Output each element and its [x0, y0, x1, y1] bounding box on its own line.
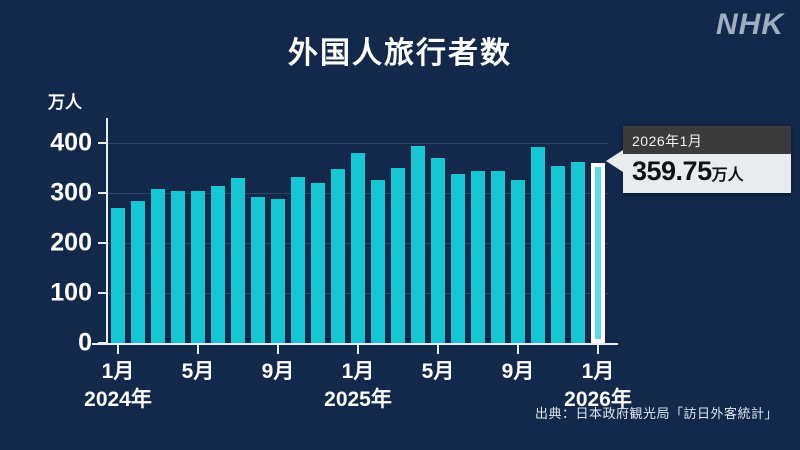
bar-plot-area	[108, 143, 608, 343]
y-tick-mark-0	[98, 342, 107, 344]
bar[interactable]	[391, 168, 405, 343]
bar[interactable]	[431, 158, 445, 343]
x-tick-label-0: 1月	[102, 355, 135, 385]
x-tick-mark-6	[597, 345, 599, 354]
bar[interactable]	[191, 191, 205, 343]
x-tick-label-5: 9月	[502, 355, 535, 385]
tooltip-value-row: 359.75万人	[623, 154, 791, 193]
y-tick-label-300: 300	[0, 179, 92, 208]
bar[interactable]	[231, 178, 245, 343]
y-tick-label-0: 0	[0, 329, 92, 358]
bar[interactable]	[171, 191, 185, 343]
x-tick-mark-1	[197, 345, 199, 354]
tooltip-period-label: 2026年1月	[623, 126, 791, 154]
bar[interactable]	[411, 146, 425, 343]
x-tick-label-6: 1月	[582, 355, 615, 385]
bar[interactable]	[471, 171, 485, 343]
x-year-label-0: 2024年	[84, 383, 152, 413]
bar[interactable]	[111, 208, 125, 343]
bar[interactable]	[571, 162, 585, 343]
tooltip-arrow-icon	[606, 150, 623, 172]
bar[interactable]	[591, 163, 605, 343]
x-tick-mark-3	[357, 345, 359, 354]
x-year-label-1: 2025年	[324, 383, 392, 413]
page-title: 外国人旅行者数	[0, 28, 800, 72]
y-tick-label-400: 400	[0, 129, 92, 158]
bar[interactable]	[151, 189, 165, 344]
bar[interactable]	[351, 153, 365, 343]
bar[interactable]	[291, 177, 305, 343]
y-tick-mark-100	[98, 292, 107, 294]
bar[interactable]	[331, 169, 345, 344]
y-tick-mark-200	[98, 242, 107, 244]
y-tick-label-200: 200	[0, 229, 92, 258]
data-point-tooltip: 2026年1月 359.75万人	[623, 126, 791, 193]
y-tick-mark-400	[98, 142, 107, 144]
bar[interactable]	[491, 171, 505, 343]
x-tick-label-3: 1月	[342, 355, 375, 385]
x-tick-label-1: 5月	[182, 355, 215, 385]
source-citation: 出典：日本政府観光局「訪日外客統計」	[535, 403, 778, 422]
x-tick-label-4: 5月	[422, 355, 455, 385]
bar[interactable]	[451, 174, 465, 343]
bar[interactable]	[531, 147, 545, 343]
x-tick-mark-2	[277, 345, 279, 354]
bar[interactable]	[271, 199, 285, 343]
tooltip-unit: 万人	[712, 167, 744, 184]
bar[interactable]	[511, 180, 525, 343]
x-tick-mark-5	[517, 345, 519, 354]
bar[interactable]	[251, 197, 265, 344]
x-tick-label-2: 9月	[262, 355, 295, 385]
bar[interactable]	[211, 186, 225, 343]
x-axis-line	[92, 343, 618, 345]
x-tick-mark-4	[437, 345, 439, 354]
y-tick-mark-300	[98, 192, 107, 194]
bar[interactable]	[551, 166, 565, 344]
bar[interactable]	[311, 183, 325, 343]
y-tick-label-100: 100	[0, 279, 92, 308]
bar[interactable]	[371, 180, 385, 343]
bar[interactable]	[131, 201, 145, 343]
tooltip-value: 359.75	[632, 156, 712, 186]
y-axis-unit-label: 万人	[48, 88, 82, 113]
x-tick-mark-0	[117, 345, 119, 354]
chart-canvas: NHK 外国人旅行者数 万人 0100200300400 1月5月9月1月5月9…	[0, 0, 800, 450]
